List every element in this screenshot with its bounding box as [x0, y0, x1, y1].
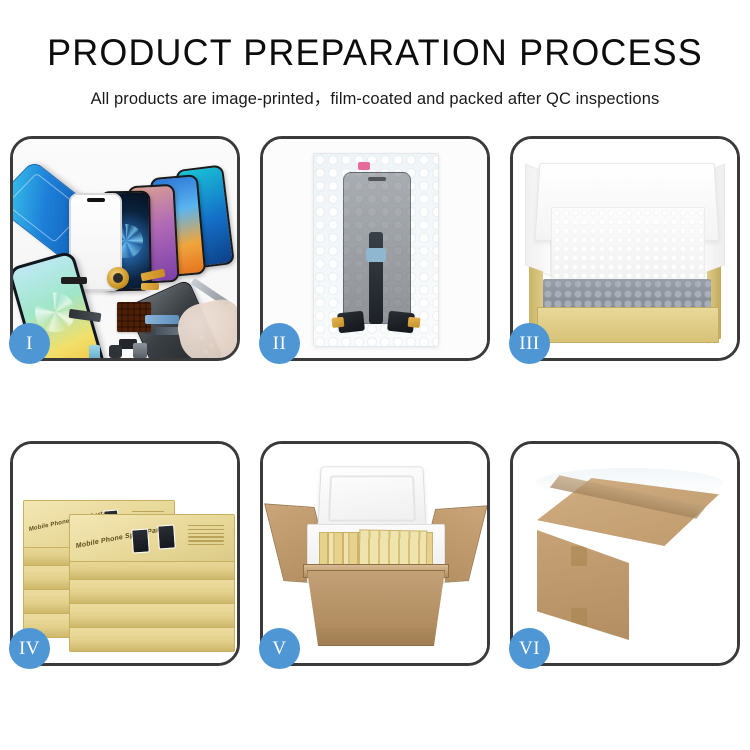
gold-contact-right [408, 317, 421, 328]
page-subtitle: All products are image-printed，film-coat… [0, 85, 750, 109]
flex-cable-blue [145, 315, 179, 324]
carton-body [307, 570, 445, 646]
connector-left [337, 311, 365, 334]
box-front-panel [537, 307, 719, 343]
carton-tab-lower [571, 608, 587, 628]
chip-part-3 [109, 345, 122, 358]
foam-box-lid [317, 466, 427, 531]
step-3-image [513, 139, 737, 358]
carton-with-foam-box-illustration [263, 444, 487, 663]
process-grid: I II [10, 136, 740, 666]
process-step-5[interactable]: V [260, 441, 490, 666]
carton-left-face [537, 530, 629, 640]
bubble-wrap-bag [313, 153, 439, 347]
box-phone-image-3 [131, 528, 150, 553]
step-badge: V [259, 628, 300, 669]
connector-right [387, 311, 415, 334]
process-step-3[interactable]: III [510, 136, 740, 361]
phone-notch [87, 198, 105, 202]
step-badge: IV [9, 628, 50, 669]
step-badge: VI [509, 628, 550, 669]
step-1-image [13, 139, 237, 358]
box-lid-face-front: Mobile Phone Spare Parts [70, 515, 234, 561]
process-step-2[interactable]: II [260, 136, 490, 361]
pink-tab [358, 162, 370, 170]
chip-part-2 [89, 345, 100, 358]
carton-tab-upper [571, 546, 587, 566]
step-4-image: Mobile Phone Spare Parts [13, 444, 237, 663]
step-6-image [513, 444, 737, 663]
process-step-4[interactable]: Mobile Phone Spare Parts [10, 441, 240, 666]
stacked-gold-boxes-illustration: Mobile Phone Spare Parts [13, 444, 237, 663]
box-label-text: Mobile Phone Spare Parts [75, 526, 166, 550]
foam-sheet [551, 207, 705, 285]
page-title: PRODUCT PREPARATION PROCESS [11, 34, 739, 71]
step-5-image [263, 444, 487, 663]
stacked-box-front-top: Mobile Phone Spare Parts [69, 514, 235, 562]
gold-contact-left [331, 317, 344, 328]
box-stack: Mobile Phone Spare Parts [19, 460, 237, 650]
step-badge: II [259, 323, 300, 364]
box-checklist [188, 525, 224, 548]
step-badge: I [9, 323, 50, 364]
process-step-6[interactable]: VI [510, 441, 740, 666]
flex-cable-gold-2 [141, 283, 159, 290]
page-header: PRODUCT PREPARATION PROCESS All products… [0, 0, 750, 109]
stacked-box-front-3 [69, 576, 235, 604]
open-gold-box-illustration [513, 139, 737, 358]
copper-coil-part [107, 267, 129, 289]
sealed-carton-illustration [513, 444, 737, 663]
lcd-notch [368, 177, 386, 181]
speaker-part [61, 277, 87, 284]
box-phone-image-4 [157, 524, 176, 549]
step-2-image [263, 139, 487, 358]
step-badge: III [509, 323, 550, 364]
stacked-box-front-4 [69, 600, 235, 628]
stacked-box-front-5 [69, 624, 235, 652]
phones-and-parts-illustration [13, 139, 237, 358]
lcd-flex-cable [369, 232, 383, 324]
process-step-1[interactable]: I [10, 136, 240, 361]
bubble-wrapped-lcd-illustration [263, 139, 487, 358]
chip-part-4 [133, 343, 147, 358]
